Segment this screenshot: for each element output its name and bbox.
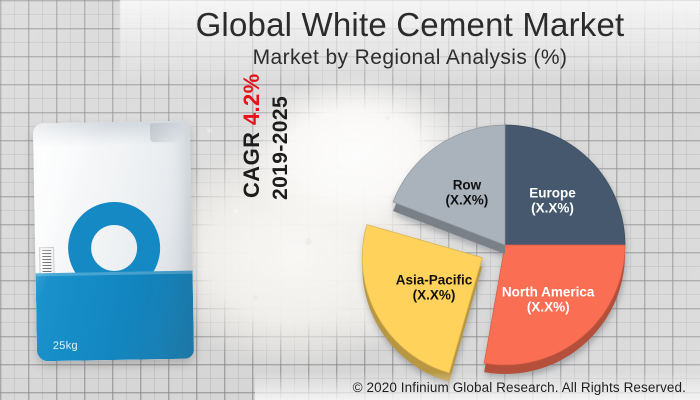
page-subtitle: Market by Regional Analysis (%)	[120, 43, 700, 70]
header: Global White Cement Market Market by Reg…	[120, 0, 700, 84]
bag-top-crease	[33, 121, 190, 148]
regional-pie-chart: Europe(X.X%)North America(X.X%)Asia-Paci…	[340, 110, 640, 390]
pie-slice-group	[362, 125, 625, 382]
pie-label-value-row: (X.X%)	[446, 193, 489, 208]
pie-label-value-north-america: (X.X%)	[527, 299, 570, 314]
pie-chart-svg: Europe(X.X%)North America(X.X%)Asia-Paci…	[340, 110, 640, 390]
cagr-value: 4.2%	[239, 73, 264, 125]
copyright-notice: © 2020 Infinium Global Research. All Rig…	[353, 380, 686, 395]
pie-label-value-asia-pacific: (X.X%)	[413, 287, 456, 302]
bag-weight-label: 25kg	[53, 340, 78, 352]
footer: © 2020 Infinium Global Research. All Rig…	[0, 380, 700, 395]
pie-label-name-row: Row	[453, 178, 482, 193]
cagr-period: 2019-2025	[269, 96, 293, 200]
bag-color-band: 25kg	[36, 271, 195, 362]
cagr-rate-line: CAGR 4.2%	[239, 73, 265, 198]
pie-label-name-asia-pacific: Asia-Pacific	[396, 272, 473, 287]
infographic-canvas: Global White Cement Market Market by Reg…	[0, 0, 700, 400]
pie-label-name-europe: Europe	[529, 185, 576, 200]
pie-label-name-north-america: North America	[502, 284, 595, 299]
cement-bag-image: 25kg	[33, 121, 194, 362]
cagr-prefix-label: CAGR	[239, 125, 264, 198]
page-title: Global White Cement Market	[120, 0, 700, 43]
pie-label-value-europe: (X.X%)	[531, 200, 574, 215]
